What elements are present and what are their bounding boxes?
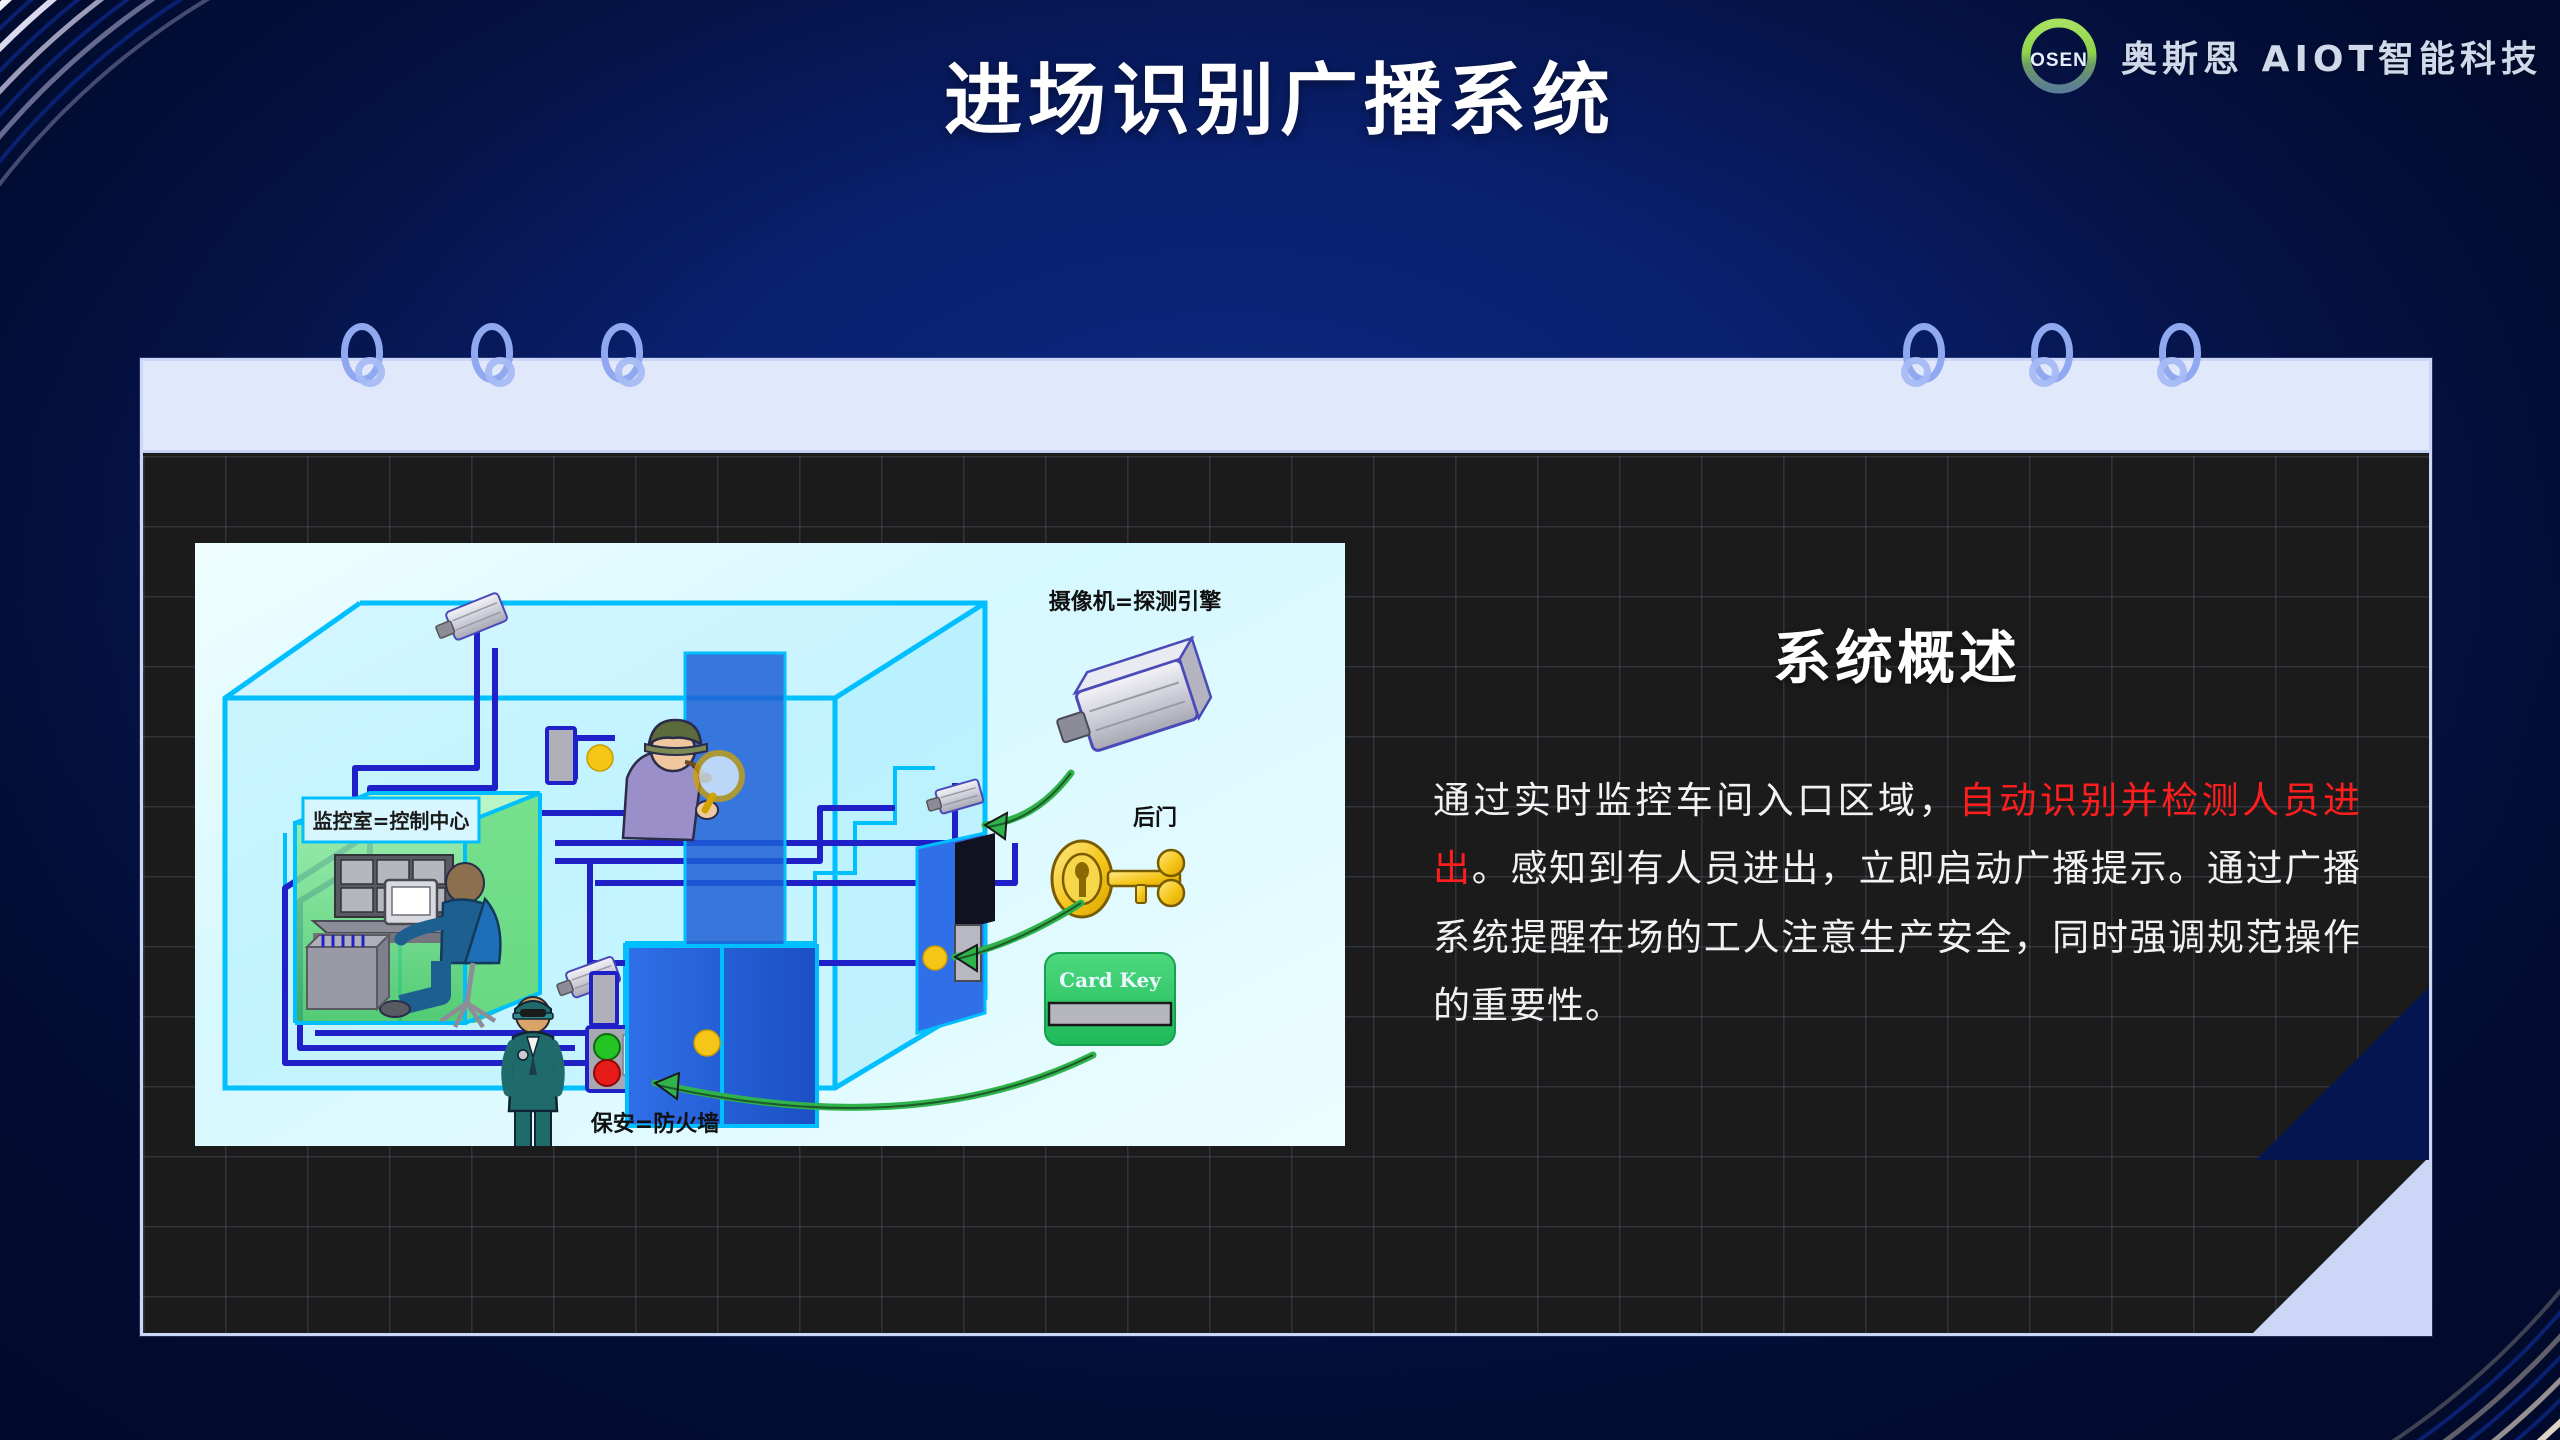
diagram-label-back-door: 后门 <box>1133 805 1177 831</box>
card-cut-corner-inner <box>2256 984 2429 1160</box>
content-card: 监控室=控制中心 <box>140 358 2432 1336</box>
overview-panel: 系统概述 通过实时监控车间入口区域，自动识别并检测人员进出。感知到有人员进出，立… <box>1393 543 2401 1293</box>
diagram-label-camera: 摄像机=探测引擎 <box>1049 589 1221 615</box>
diagram-label-card-key: Card Key <box>1059 968 1162 992</box>
svg-text:OSEN: OSEN <box>2030 50 2088 71</box>
osen-logo-icon: OSEN <box>2013 10 2105 102</box>
panel-body: 通过实时监控车间入口区域，自动识别并检测人员进出。感知到有人员进出，立即启动广播… <box>1433 767 2361 1041</box>
card-header-bar <box>143 361 2429 453</box>
panel-title: 系统概述 <box>1433 611 2361 695</box>
security-system-diagram: 监控室=控制中心 <box>195 543 1345 1146</box>
diagram-label-control-room: 监控室=控制中心 <box>313 809 470 833</box>
card-cut-corner <box>2253 1157 2429 1333</box>
panel-body-part2: 。感知到有人员进出，立即启动广播提示。通过广播系统提醒在场的工人注意生产安全，同… <box>1433 847 2361 1027</box>
diagram-label-guard: 保安=防火墙 <box>590 1111 719 1137</box>
brand-logo: OSEN 奥斯恩 AIOT智能科技 <box>2013 10 2542 102</box>
panel-body-part1: 通过实时监控车间入口区域， <box>1433 779 1959 822</box>
card-body: 监控室=控制中心 <box>143 456 2429 1333</box>
brand-name: 奥斯恩 AIOT智能科技 <box>2121 30 2542 82</box>
